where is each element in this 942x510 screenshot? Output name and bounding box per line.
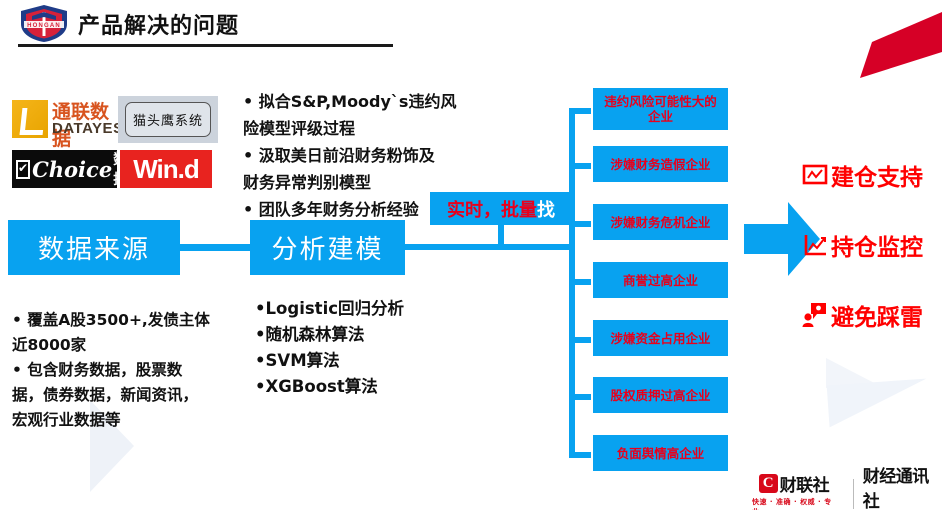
- bullet-line: 近8000家: [12, 333, 237, 358]
- bullet-line: • 覆盖A股3500+,发债主体: [12, 308, 237, 333]
- wind-logo: Win.d: [120, 150, 212, 188]
- connector-branch: [569, 394, 591, 400]
- connector-source-to-model: [180, 244, 250, 251]
- result-box-fund-occupation: 涉嫌资金占用企业: [593, 320, 728, 356]
- svg-text:HONGAN: HONGAN: [27, 23, 61, 29]
- cls-logo-tagline: 快速 · 准确 · 权威 · 专业: [752, 497, 836, 510]
- modeling-algorithms: •Logistic回归分析 •随机森林算法 •SVM算法 •XGBoost算法: [255, 296, 455, 400]
- person-alert-icon: [802, 302, 828, 328]
- result-box-equity-pledge: 股权质押过高企业: [593, 377, 728, 413]
- red-swoosh-decoration: [830, 0, 942, 80]
- connector-branch: [569, 279, 591, 285]
- checkbox-icon: ✔: [16, 160, 30, 179]
- result-box-negative-sentiment: 负面舆情高企业: [593, 435, 728, 471]
- cls-logo: C 财联社 快速 · 准确 · 权威 · 专业: [752, 471, 844, 510]
- bullet-line: 险模型评级过程: [243, 115, 478, 142]
- watermark-triangle-right-lower: [827, 379, 930, 428]
- outcome-label: 建仓支持: [831, 158, 923, 192]
- outcome-position-monitoring: 持仓监控: [802, 228, 923, 262]
- connector-branch: [569, 452, 591, 458]
- realtime-batch-banner: 实时，批量找: [430, 192, 572, 225]
- hongan-shield-logo: HONGAN: [12, 2, 76, 44]
- choice-logo: ✔ Choice 数据: [12, 150, 117, 188]
- flow-box-data-source: 数据来源: [8, 220, 180, 275]
- result-box-line2: 企业: [648, 109, 673, 124]
- connector-branch: [569, 337, 591, 343]
- connector-branch: [569, 163, 591, 169]
- connector-branch: [569, 221, 591, 227]
- outcome-avoid-landmine: 避免踩雷: [802, 298, 923, 332]
- chart-box-icon: [802, 162, 828, 188]
- data-source-bullets: • 覆盖A股3500+,发债主体 近8000家 • 包含财务数据，股票数 据，债…: [12, 308, 237, 433]
- banner-white-text: 找: [537, 196, 555, 222]
- flow-box-data-source-label: 数据来源: [38, 229, 150, 266]
- connector-model-to-tree: [405, 244, 575, 250]
- outcome-position-building: 建仓支持: [802, 158, 923, 192]
- line-chart-icon: [802, 232, 828, 258]
- algorithm-line: •Logistic回归分析: [255, 296, 455, 322]
- connector-branch: [569, 108, 591, 114]
- algorithm-line: •随机森林算法: [255, 322, 455, 348]
- result-box-financial-crisis: 涉嫌财务危机企业: [593, 204, 728, 240]
- bullet-line: • 包含财务数据，股票数: [12, 358, 237, 383]
- bullet-line: • 拟合S&P,Moody`s违约风: [243, 88, 478, 115]
- cls-logo-mark: C: [759, 474, 778, 493]
- flow-box-modeling: 分析建模: [250, 220, 405, 275]
- outcome-label: 避免踩雷: [831, 298, 923, 332]
- footer-branding: C 财联社 快速 · 准确 · 权威 · 专业 财经通讯社 为速度和交易而生: [752, 462, 942, 510]
- datayes-mark-icon: [12, 100, 48, 138]
- owl-system-logo-label: 猫头鹰系统: [125, 102, 211, 137]
- algorithm-line: •SVM算法: [255, 348, 455, 374]
- footer-subtitle: 财经通讯社: [863, 462, 942, 510]
- footer-divider: [853, 479, 854, 509]
- title-underline: [18, 44, 393, 47]
- datayes-logo-en: DATAYES: [52, 120, 124, 137]
- wind-logo-label: Win.d: [133, 154, 199, 185]
- result-box-financial-fraud: 涉嫌财务造假企业: [593, 146, 728, 182]
- banner-red-text: 实时，批量: [447, 196, 537, 222]
- bullet-line: 据，债券数据，新闻资讯，: [12, 383, 237, 408]
- owl-system-logo: 猫头鹰系统: [118, 96, 218, 143]
- page-title: 产品解决的问题: [78, 8, 239, 40]
- bullet-line: 宏观行业数据等: [12, 408, 237, 433]
- slide-canvas: HONGAN 产品解决的问题 通联数据 DATAYES 猫头鹰系统 ✔ Choi…: [0, 0, 942, 510]
- datayes-logo: 通联数据 DATAYES: [12, 96, 116, 142]
- choice-logo-en: Choice: [32, 157, 112, 182]
- algorithm-line: •XGBoost算法: [255, 374, 455, 400]
- result-box-default-risk: 违约风险可能性大的 企业: [593, 88, 728, 130]
- connector-banner-stub: [498, 225, 504, 247]
- result-box-line1: 违约风险可能性大的: [604, 94, 717, 109]
- result-box-high-goodwill: 商誉过高企业: [593, 262, 728, 298]
- cls-logo-name: 财联社: [780, 471, 830, 496]
- flow-box-modeling-label: 分析建模: [271, 229, 383, 266]
- bullet-line: • 汲取美日前沿财务粉饰及: [243, 142, 478, 169]
- outcome-label: 持仓监控: [831, 228, 923, 262]
